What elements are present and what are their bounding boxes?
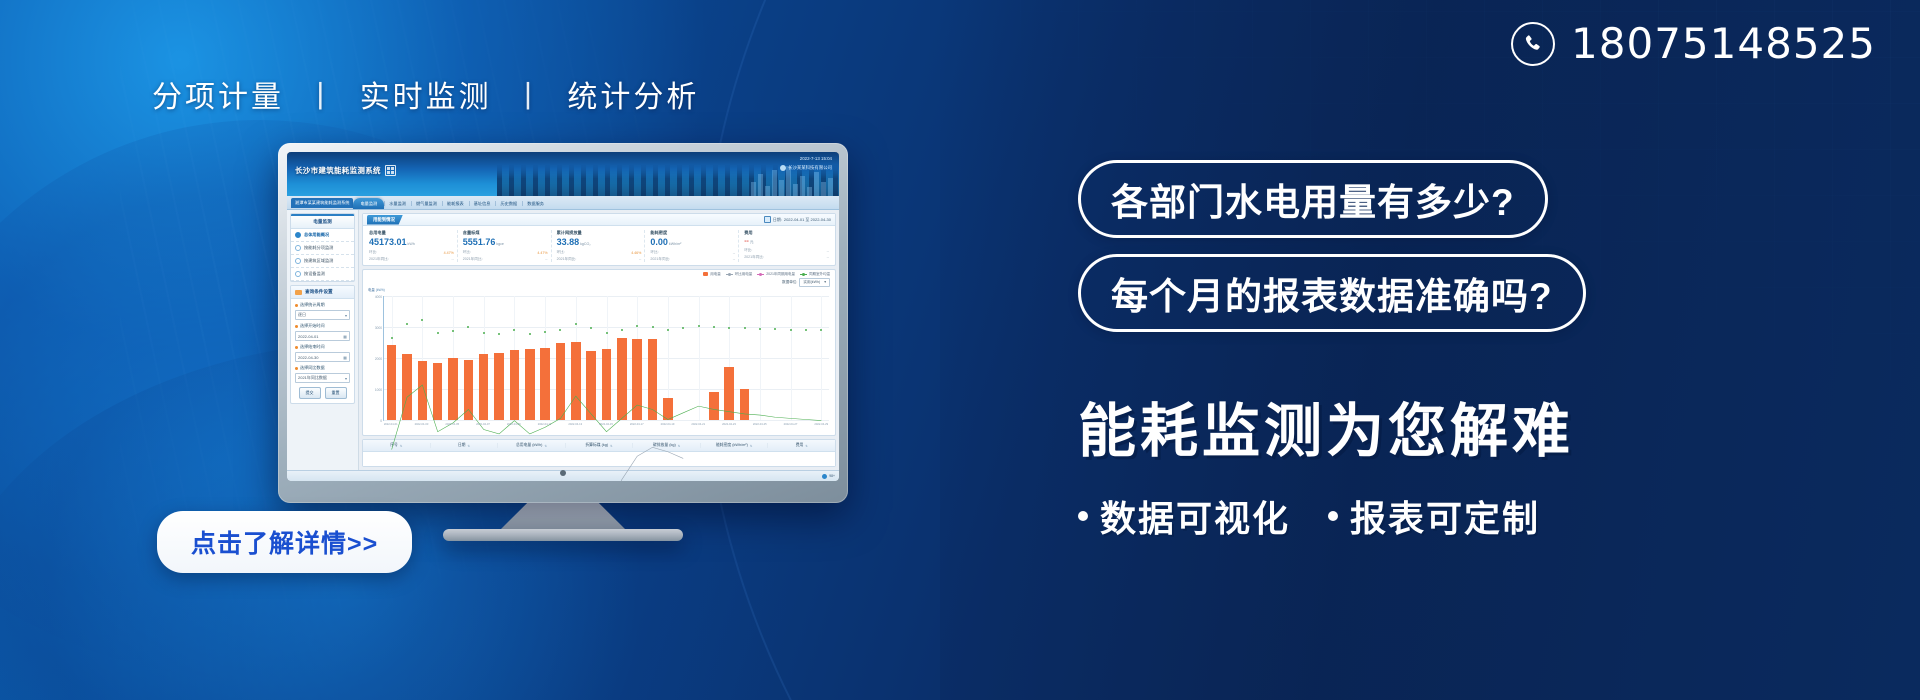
x-axis-tick: 2022-04-01 <box>384 423 398 426</box>
calendar-icon <box>764 216 771 223</box>
kpi-compare-name: 环比: <box>650 250 658 255</box>
compare-value: 2021年同比数据 <box>298 375 327 381</box>
filter-icon <box>295 290 302 295</box>
kpi-compare-change: 4.46% <box>631 251 641 255</box>
kpi-compare-rows: 环比:4.47% 2021年同比:-- <box>369 250 454 262</box>
x-axis-tick: 2022-04-21 <box>691 423 705 426</box>
filter-field-end: 选择结束时间 2022-04-30 ▦ <box>291 341 354 362</box>
x-axis-tick: 2022-04-13 <box>568 423 582 426</box>
filter-card: 查询条件设置 选择统计周期 逐日 ▾ <box>290 285 355 404</box>
feature-bullet-2: 报表可定制 <box>1328 490 1540 542</box>
filter-label: 选择统计周期 <box>295 302 350 308</box>
kpi-compare-change: -- <box>733 257 735 261</box>
legend-swatch <box>703 272 708 276</box>
filter-actions: 提交 重置 <box>291 383 354 403</box>
y-axis-tick: 0 <box>380 419 382 423</box>
kpi-value: 45173.01kWh <box>369 238 454 247</box>
kicker-item-3: 统计分析 <box>567 81 699 114</box>
kpi-unit: 元 <box>750 240 754 244</box>
filter-label-text: 选择结束时间 <box>300 344 325 350</box>
data-unit-selector[interactable]: 数据单位: 实用(kWh) ▾ <box>782 278 830 287</box>
status-count: 98+ <box>829 474 835 478</box>
dot-icon <box>295 304 298 307</box>
phone-icon <box>1511 22 1555 66</box>
overview-panel-head: 用能到情况 日期: 2022-04-01 至 2022-04-30 <box>363 214 835 226</box>
kpi-number: 5551.76 <box>463 237 496 247</box>
filter-field-compare: 选择同比数据 2021年同比数据 ▾ <box>291 362 354 383</box>
chart-line-series <box>384 296 829 482</box>
promo-banner: 18075148525 分项计量 丨 实时监测 丨 统计分析 <box>0 0 1920 700</box>
sidebar-item-label: 按建筑区域监测 <box>304 258 333 264</box>
legend-line <box>757 274 764 275</box>
dot-icon <box>295 367 298 370</box>
kpi-compare-row: 2021年同比:-- <box>650 257 735 262</box>
period-value: 逐日 <box>298 312 306 318</box>
filter-title: 查询条件设置 <box>291 286 354 299</box>
sidebar-item-label: 按能耗分项监测 <box>304 245 333 251</box>
tab-data-service[interactable]: 数据服务 <box>522 198 549 209</box>
filter-label: 选择同比数据 <box>295 365 350 371</box>
y-axis-tick: 1000 <box>375 388 382 392</box>
tab-site-info[interactable]: 基址信息 <box>469 198 496 209</box>
kpi-standard-coal: 含量标煤 5551.76kgce 环比:4.47% 2021年同比:-- <box>460 230 552 262</box>
dot-icon <box>295 325 298 328</box>
tab-reports[interactable]: 能耗报表 <box>442 198 469 209</box>
compare-select[interactable]: 2021年同比数据 ▾ <box>295 373 350 383</box>
kpi-unit: kWh/m² <box>669 242 681 246</box>
chart-data-point[interactable] <box>652 326 654 328</box>
kicker-item-1: 分项计量 <box>152 81 284 114</box>
kpi-compare-change: -- <box>545 257 547 261</box>
sidebar-item-by-category[interactable]: 按能耗分项监测 <box>291 242 354 255</box>
feature-bullet-label: 数据可视化 <box>1100 490 1290 542</box>
kpi-compare-name: 2021年同比: <box>744 255 764 260</box>
filter-label: 选择结束时间 <box>295 344 350 350</box>
app-brand: 长沙市建筑能耗监测系统 <box>295 165 396 176</box>
monitor-mockup: 长沙市建筑能耗监测系统 2022-7-13 15:04 长沙某某科技有限公司 <box>278 143 848 503</box>
sidebar-item-label: 按设备监测 <box>304 271 325 277</box>
x-axis-tick: 2022-04-05 <box>445 423 459 426</box>
overview-panel-title: 用能到情况 <box>367 215 403 225</box>
kpi-value: 0.00kWh/m² <box>650 238 735 247</box>
cta-button[interactable]: 点击了解详情>> <box>157 511 412 573</box>
y-axis-tick: 3000 <box>375 326 382 330</box>
data-unit-label: 数据单位: <box>782 280 797 285</box>
chart-panel: 用电量 环比用电量 2021年同期用电量 <box>362 269 836 437</box>
data-unit-value: 实用(kWh) <box>803 280 820 285</box>
kicker-separator-1: 丨 <box>305 81 338 114</box>
kpi-compare-row: 环比:-- <box>650 250 735 255</box>
kpi-compare-change: 4.47% <box>537 251 547 255</box>
x-axis-tick: 2022-04-15 <box>599 423 613 426</box>
dot-icon <box>295 346 298 349</box>
end-date-input[interactable]: 2022-04-30 ▦ <box>295 352 350 362</box>
kpi-label: 能耗密度 <box>650 230 735 236</box>
question-pill-2: 每个月的报表数据准确吗? <box>1078 254 1586 332</box>
tab-history[interactable]: 历史数据 <box>495 198 522 209</box>
x-axis-tick: 2022-04-19 <box>661 423 675 426</box>
end-date-value: 2022-04-30 <box>298 355 318 360</box>
y-axis-label: 电量 <box>368 288 375 292</box>
feature-bullet-1: 数据可视化 <box>1078 490 1290 542</box>
kpi-number: 45173.01 <box>369 237 407 247</box>
kpi-label: 累计网损放量 <box>557 230 642 236</box>
chevron-down-icon: ▾ <box>345 376 347 381</box>
chart-data-point[interactable] <box>483 332 485 334</box>
kpi-compare-rows: 环比:-- 2021年同比:-- <box>650 250 735 262</box>
nav-module-label: 湘潭市某某建筑能耗监测系统 <box>291 198 353 208</box>
question-row-2: 每个月的报表数据准确吗? <box>1078 254 1898 348</box>
y-axis-tick: 4000 <box>375 295 382 299</box>
kpi-compare-row: 环比:4.47% <box>463 250 548 255</box>
x-axis-tick: 2022-04-09 <box>507 423 521 426</box>
sidebar-item-by-device[interactable]: 按设备监测 <box>291 268 354 281</box>
x-axis-tick: 2022-04-11 <box>538 423 552 426</box>
chart-data-point[interactable] <box>406 323 408 325</box>
chart-y-axis-title: 电量 (kWh) <box>368 287 385 292</box>
chart-data-point[interactable] <box>452 330 454 332</box>
kpi-number: 0.00 <box>650 237 668 247</box>
phone-number: 18075148525 <box>1571 23 1876 65</box>
chart-area: 电量 (kWh) 01000200030004000 2022-04-01202… <box>363 287 835 436</box>
kpi-cost: 费用 --元 环比:-- 2021年同比:-- <box>741 230 832 262</box>
kpi-compare-name: 2021年同比: <box>463 257 483 262</box>
headline: 能耗监测为您解难 <box>1078 384 1898 468</box>
kpi-compare-name: 2021年同比: <box>557 257 577 262</box>
chart-data-point[interactable] <box>805 329 807 331</box>
filter-title-label: 查询条件设置 <box>305 289 333 295</box>
filter-field-start: 选择开始时间 2022-04-01 ▦ <box>291 320 354 341</box>
app-body: 电量监测 总体用能概况 按能耗分项监测 <box>287 210 839 470</box>
tab-electricity[interactable]: 电量监测 <box>353 198 384 209</box>
start-date-value: 2022-04-01 <box>298 334 318 339</box>
filter-label-text: 选择统计周期 <box>300 302 325 308</box>
kpi-compare-change: -- <box>827 255 829 259</box>
kpi-compare-row: 2021年同比:-- <box>463 257 548 262</box>
monitor-bezel: 长沙市建筑能耗监测系统 2022-7-13 15:04 长沙某某科技有限公司 <box>278 143 848 503</box>
app-timestamp: 2022-7-13 15:04 <box>780 156 832 163</box>
bullet-icon <box>295 232 301 238</box>
sidebar-nav-card: 电量监测 总体用能概况 按能耗分项监测 <box>290 213 355 282</box>
app-header-meta: 2022-7-13 15:04 长沙某某科技有限公司 <box>780 156 832 171</box>
kpi-value: 33.88kgCO₂ <box>557 238 642 247</box>
reset-button[interactable]: 重置 <box>325 387 347 399</box>
chart-data-point[interactable] <box>621 329 623 331</box>
date-range-value: 2022-04-01 至 2022-04-30 <box>784 217 831 223</box>
kpi-compare-change: -- <box>451 257 453 261</box>
kpi-row: 总用电量 45173.01kWh 环比:4.47% 2021年同比:-- <box>363 226 835 265</box>
kpi-total-electricity: 总用电量 45173.01kWh 环比:4.47% 2021年同比:-- <box>366 230 458 262</box>
data-unit-box[interactable]: 实用(kWh) ▾ <box>799 278 830 287</box>
app-nav: 湘潭市某某建筑能耗监测系统 电量监测 水量监测 燃气量监测 能耗报表 基址信息 … <box>287 196 839 210</box>
kpi-compare-name: 环比: <box>557 250 565 255</box>
kpi-compare-rows: 环比:-- 2021年同比:-- <box>744 248 829 260</box>
kpi-carbon-emission: 累计网损放量 33.88kgCO₂ 环比:4.46% 2021年同比:-- <box>554 230 646 262</box>
x-axis-tick: 2022-04-25 <box>753 423 767 426</box>
monitor-display: 长沙市建筑能耗监测系统 2022-7-13 15:04 长沙某某科技有限公司 <box>287 152 839 481</box>
date-label: 日期: <box>773 217 782 223</box>
bullet-dot-icon <box>1078 511 1088 521</box>
kpi-number: 33.88 <box>557 237 580 247</box>
app-user-name: 长沙某某科技有限公司 <box>788 165 832 172</box>
bullet-icon <box>295 245 301 251</box>
kpi-energy-density: 能耗密度 0.00kWh/m² 环比:-- 2021年同比:-- <box>647 230 739 262</box>
y-axis-unit: (kWh) <box>376 288 385 292</box>
app-header: 长沙市建筑能耗监测系统 2022-7-13 15:04 长沙某某科技有限公司 <box>287 152 839 196</box>
overview-panel: 用能到情况 日期: 2022-04-01 至 2022-04-30 <box>362 213 836 266</box>
chevron-down-icon: ▾ <box>345 313 347 318</box>
chart-data-point[interactable] <box>759 328 761 330</box>
chart-x-axis-labels: 2022-04-012022-04-032022-04-052022-04-07… <box>383 422 829 435</box>
kpi-compare-row: 环比:4.46% <box>557 250 642 255</box>
question-row-1: 各部门水电用量有多少? <box>1078 160 1898 254</box>
kicker-item-2: 实时监测 <box>360 81 492 114</box>
bullet-icon <box>295 258 301 264</box>
kpi-compare-rows: 环比:4.47% 2021年同比:-- <box>463 250 548 262</box>
kpi-compare-change: -- <box>827 249 829 253</box>
bullet-icon <box>295 271 301 277</box>
kpi-compare-row: 环比:4.47% <box>369 250 454 255</box>
question-pill-1: 各部门水电用量有多少? <box>1078 160 1548 238</box>
tab-gas[interactable]: 燃气量监测 <box>411 198 442 209</box>
kpi-compare-row: 2021年同比:-- <box>369 257 454 262</box>
tab-water[interactable]: 水量监测 <box>384 198 411 209</box>
avatar <box>780 165 786 171</box>
kpi-compare-name: 2021年同比: <box>369 257 389 262</box>
calendar-icon: ▦ <box>343 334 347 339</box>
filter-label-text: 选择同比数据 <box>300 365 325 371</box>
kpi-compare-change: 4.47% <box>444 251 454 255</box>
chart-data-point[interactable] <box>667 329 669 331</box>
chart-data-point[interactable] <box>529 333 531 335</box>
kpi-compare-row: 环比:-- <box>744 248 829 253</box>
sidebar-panel-title: 电量监测 <box>291 214 354 229</box>
chart-plot: 01000200030004000 <box>383 296 829 422</box>
kpi-compare-name: 2021年同比: <box>650 257 670 262</box>
kpi-compare-name: 环比: <box>369 250 377 255</box>
kpi-compare-name: 环比: <box>744 248 752 253</box>
kpi-label: 总用电量 <box>369 230 454 236</box>
kpi-compare-name: 环比: <box>463 250 471 255</box>
kpi-unit: kgCO₂ <box>580 242 591 246</box>
bullet-dot-icon <box>1328 511 1338 521</box>
building-icon <box>385 165 396 176</box>
kpi-unit: kWh <box>408 242 415 246</box>
x-axis-tick: 2022-04-03 <box>415 423 429 426</box>
chart-data-point[interactable] <box>575 323 577 325</box>
x-axis-tick: 2022-04-23 <box>722 423 736 426</box>
filter-label: 选择开始时间 <box>295 323 350 329</box>
kpi-compare-change: -- <box>639 257 641 261</box>
calendar-icon: ▦ <box>343 355 347 360</box>
right-content: 各部门水电用量有多少? 每个月的报表数据准确吗? 能耗监测为您解难 数据可视化 … <box>1078 160 1898 542</box>
chart-toolbar: 用电量 环比用电量 2021年同期用电量 <box>363 270 835 277</box>
sidebar-item-label: 总体用能概况 <box>304 232 329 238</box>
feature-bullet-label: 报表可定制 <box>1350 490 1540 542</box>
kicker-separator-2: 丨 <box>513 81 546 114</box>
phone-contact[interactable]: 18075148525 <box>1511 22 1876 66</box>
filter-field-period: 选择统计周期 逐日 ▾ <box>291 299 354 320</box>
kpi-compare-rows: 环比:4.46% 2021年同比:-- <box>557 250 642 262</box>
feature-bullets: 数据可视化 报表可定制 <box>1078 490 1898 542</box>
y-axis-tick: 2000 <box>375 357 382 361</box>
chart-data-point[interactable] <box>790 329 792 331</box>
x-axis-tick: 2022-04-07 <box>476 423 490 426</box>
submit-button[interactable]: 提交 <box>299 387 321 399</box>
app-user[interactable]: 长沙某某科技有限公司 <box>780 165 832 172</box>
overview-date-range[interactable]: 日期: 2022-04-01 至 2022-04-30 <box>764 216 831 223</box>
filter-label-text: 选择开始时间 <box>300 323 325 329</box>
chevron-down-icon: ▾ <box>824 280 826 284</box>
legend-line <box>726 274 733 275</box>
kicker-text: 分项计量 丨 实时监测 丨 统计分析 <box>152 72 699 116</box>
x-axis-tick: 2022-04-27 <box>784 423 798 426</box>
chart-unit-row: 数据单位: 实用(kWh) ▾ <box>363 277 835 287</box>
x-axis-tick: 2022-04-29 <box>814 423 828 426</box>
start-date-input[interactable]: 2022-04-01 ▦ <box>295 331 350 341</box>
kpi-unit: kgce <box>496 242 504 246</box>
x-axis-tick: 2022-04-17 <box>630 423 644 426</box>
app-main: 用能到情况 日期: 2022-04-01 至 2022-04-30 <box>359 210 839 470</box>
kpi-label: 含量标煤 <box>463 230 548 236</box>
app-window: 长沙市建筑能耗监测系统 2022-7-13 15:04 长沙某某科技有限公司 <box>287 152 839 481</box>
kpi-compare-change: -- <box>733 251 735 255</box>
kpi-compare-row: 2021年同比:-- <box>744 255 829 260</box>
monitor-indicator-dot <box>560 470 566 476</box>
monitor-base <box>443 529 683 541</box>
period-select[interactable]: 逐日 ▾ <box>295 310 350 320</box>
kpi-value: 5551.76kgce <box>463 238 548 247</box>
app-sidebar: 电量监测 总体用能概况 按能耗分项监测 <box>287 210 359 470</box>
app-brand-title: 长沙市建筑能耗监测系统 <box>295 165 381 176</box>
sidebar-item-overview[interactable]: 总体用能概况 <box>291 229 354 242</box>
legend-line <box>800 274 807 275</box>
sidebar-item-by-area[interactable]: 按建筑区域监测 <box>291 255 354 268</box>
kpi-value: --元 <box>744 238 829 245</box>
kpi-number: -- <box>744 238 749 245</box>
kpi-compare-row: 2021年同比:-- <box>557 257 642 262</box>
kpi-label: 费用 <box>744 230 829 236</box>
